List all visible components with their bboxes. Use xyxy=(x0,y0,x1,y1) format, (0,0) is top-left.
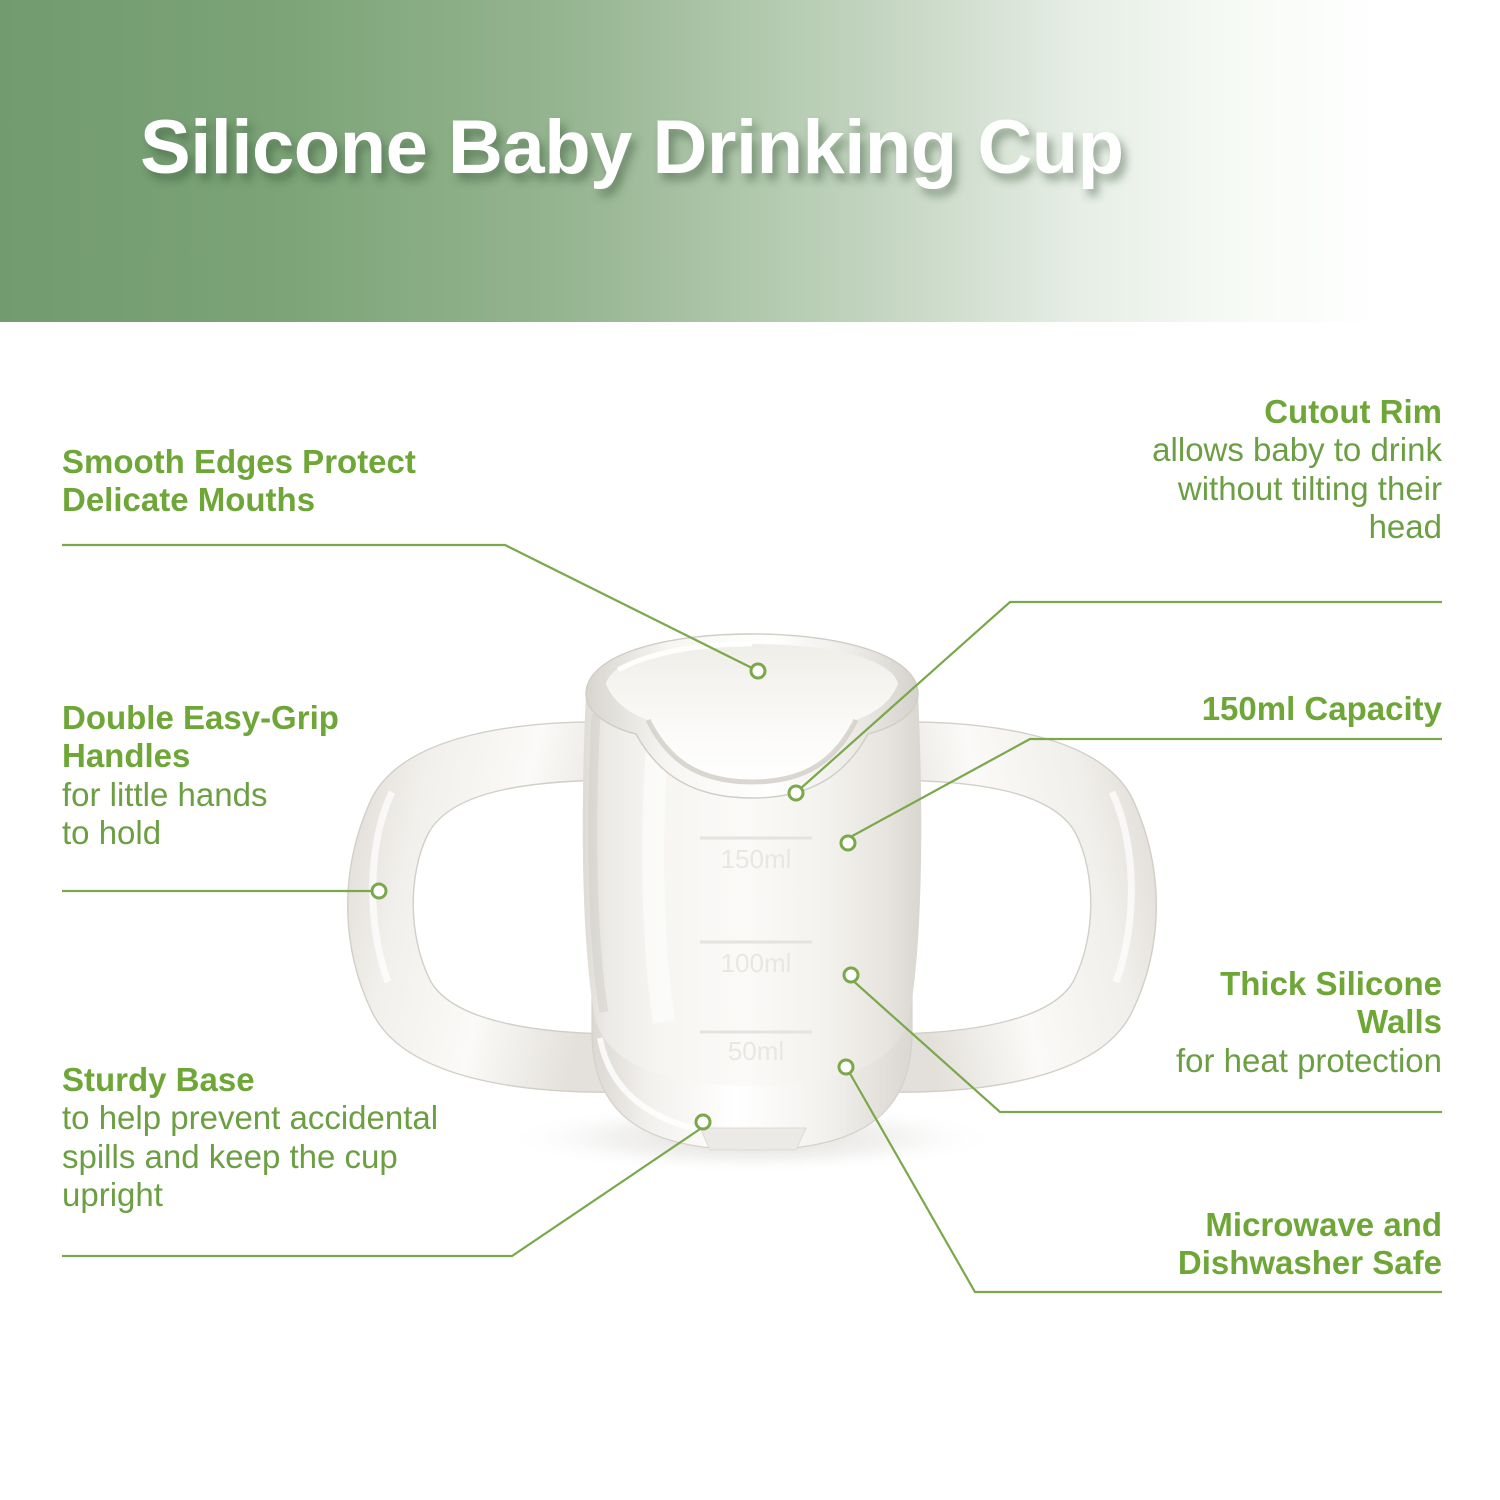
mark-50ml: 50ml xyxy=(728,1036,784,1066)
callout-smooth-edges-title-line1: Smooth Edges Protect xyxy=(62,443,532,481)
callout-thick-walls-title-line1: Thick Silicone xyxy=(1002,965,1442,1003)
callout-thick-walls: Thick Silicone Walls for heat protection xyxy=(1002,965,1442,1080)
callout-double-handles-title-line2: Handles xyxy=(62,737,462,775)
callout-cutout-rim: Cutout Rim allows baby to drink without … xyxy=(982,393,1442,546)
callout-double-handles: Double Easy-Grip Handles for little hand… xyxy=(62,699,462,852)
callout-smooth-edges: Smooth Edges Protect Delicate Mouths xyxy=(62,443,532,520)
callout-cutout-rim-sub-line1: allows baby to drink xyxy=(982,431,1442,469)
callout-microwave-title-line2: Dishwasher Safe xyxy=(1002,1244,1442,1282)
callout-cutout-rim-sub-line3: head xyxy=(982,508,1442,546)
callout-sturdy-base-sub-line2: spills and keep the cup xyxy=(62,1138,582,1176)
callout-microwave-title-line1: Microwave and xyxy=(1002,1206,1442,1244)
callout-double-handles-sub-line2: to hold xyxy=(62,814,462,852)
mark-150ml: 150ml xyxy=(721,844,792,874)
mark-100ml: 100ml xyxy=(721,948,792,978)
callout-capacity: 150ml Capacity xyxy=(1002,690,1442,728)
callout-thick-walls-sub-line1: for heat protection xyxy=(1002,1042,1442,1080)
callout-smooth-edges-title-line2: Delicate Mouths xyxy=(62,481,532,519)
callout-sturdy-base: Sturdy Base to help prevent accidental s… xyxy=(62,1061,582,1214)
callout-double-handles-title-line1: Double Easy-Grip xyxy=(62,699,462,737)
callout-sturdy-base-sub-line3: upright xyxy=(62,1176,582,1214)
product-infographic: Silicone Baby Drinking Cup xyxy=(0,0,1500,1500)
callout-thick-walls-title-line2: Walls xyxy=(1002,1003,1442,1041)
callout-microwave-dishwasher: Microwave and Dishwasher Safe xyxy=(1002,1206,1442,1283)
callout-capacity-title: 150ml Capacity xyxy=(1002,690,1442,728)
callout-sturdy-base-title: Sturdy Base xyxy=(62,1061,582,1099)
callout-cutout-rim-title: Cutout Rim xyxy=(982,393,1442,431)
callout-double-handles-sub-line1: for little hands xyxy=(62,776,462,814)
page-title: Silicone Baby Drinking Cup xyxy=(140,104,1124,191)
callout-cutout-rim-sub-line2: without tilting their xyxy=(982,470,1442,508)
callout-sturdy-base-sub-line1: to help prevent accidental xyxy=(62,1099,582,1137)
